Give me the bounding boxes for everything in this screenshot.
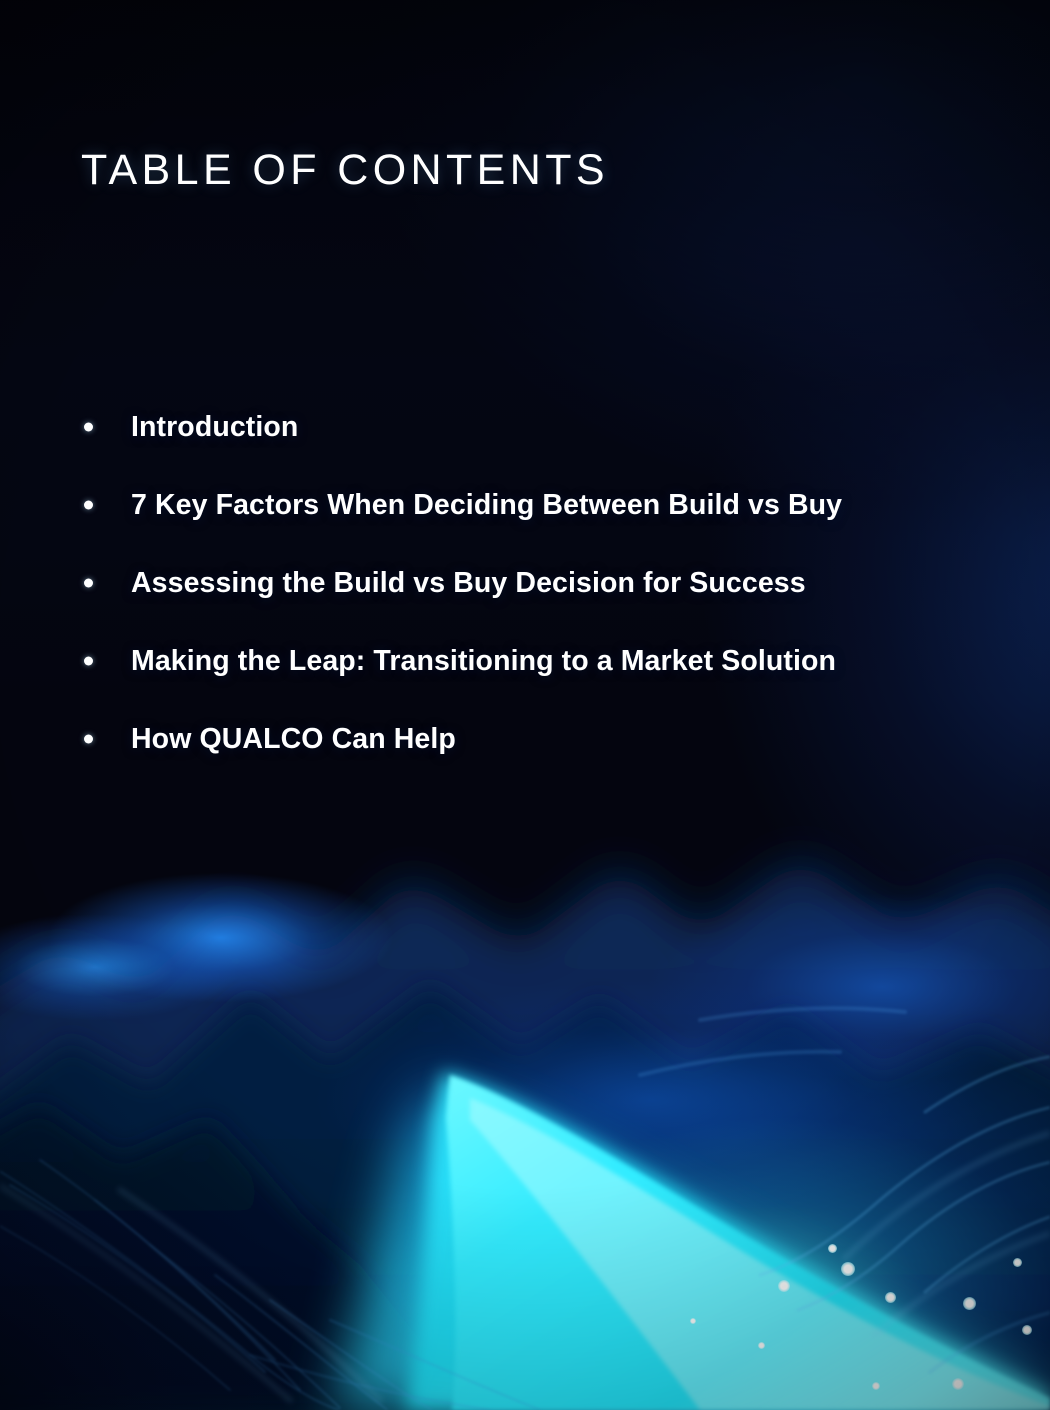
bullet-icon: [84, 579, 93, 588]
bullet-icon: [84, 501, 93, 510]
bullet-icon: [84, 657, 93, 666]
toc-item-how-qualco-can-help[interactable]: How QUALCO Can Help: [78, 700, 842, 778]
bullet-icon: [84, 735, 93, 744]
table-of-contents-list: Introduction 7 Key Factors When Deciding…: [78, 388, 842, 778]
toc-item-label: Introduction: [131, 410, 298, 444]
toc-item-label: Making the Leap: Transitioning to a Mark…: [131, 644, 836, 678]
toc-item-key-factors[interactable]: 7 Key Factors When Deciding Between Buil…: [78, 466, 842, 544]
slide-canvas: TABLE OF CONTENTS Introduction 7 Key Fac…: [0, 0, 1050, 1410]
bullet-icon: [84, 423, 93, 432]
slide-content: TABLE OF CONTENTS Introduction 7 Key Fac…: [0, 0, 1050, 1410]
toc-item-label: Assessing the Build vs Buy Decision for …: [131, 566, 806, 600]
toc-item-introduction[interactable]: Introduction: [78, 388, 842, 466]
toc-item-label: 7 Key Factors When Deciding Between Buil…: [131, 488, 842, 522]
toc-item-assessing-decision[interactable]: Assessing the Build vs Buy Decision for …: [78, 544, 842, 622]
toc-item-making-the-leap[interactable]: Making the Leap: Transitioning to a Mark…: [78, 622, 842, 700]
page-title: TABLE OF CONTENTS: [81, 147, 609, 194]
toc-item-label: How QUALCO Can Help: [131, 722, 456, 756]
